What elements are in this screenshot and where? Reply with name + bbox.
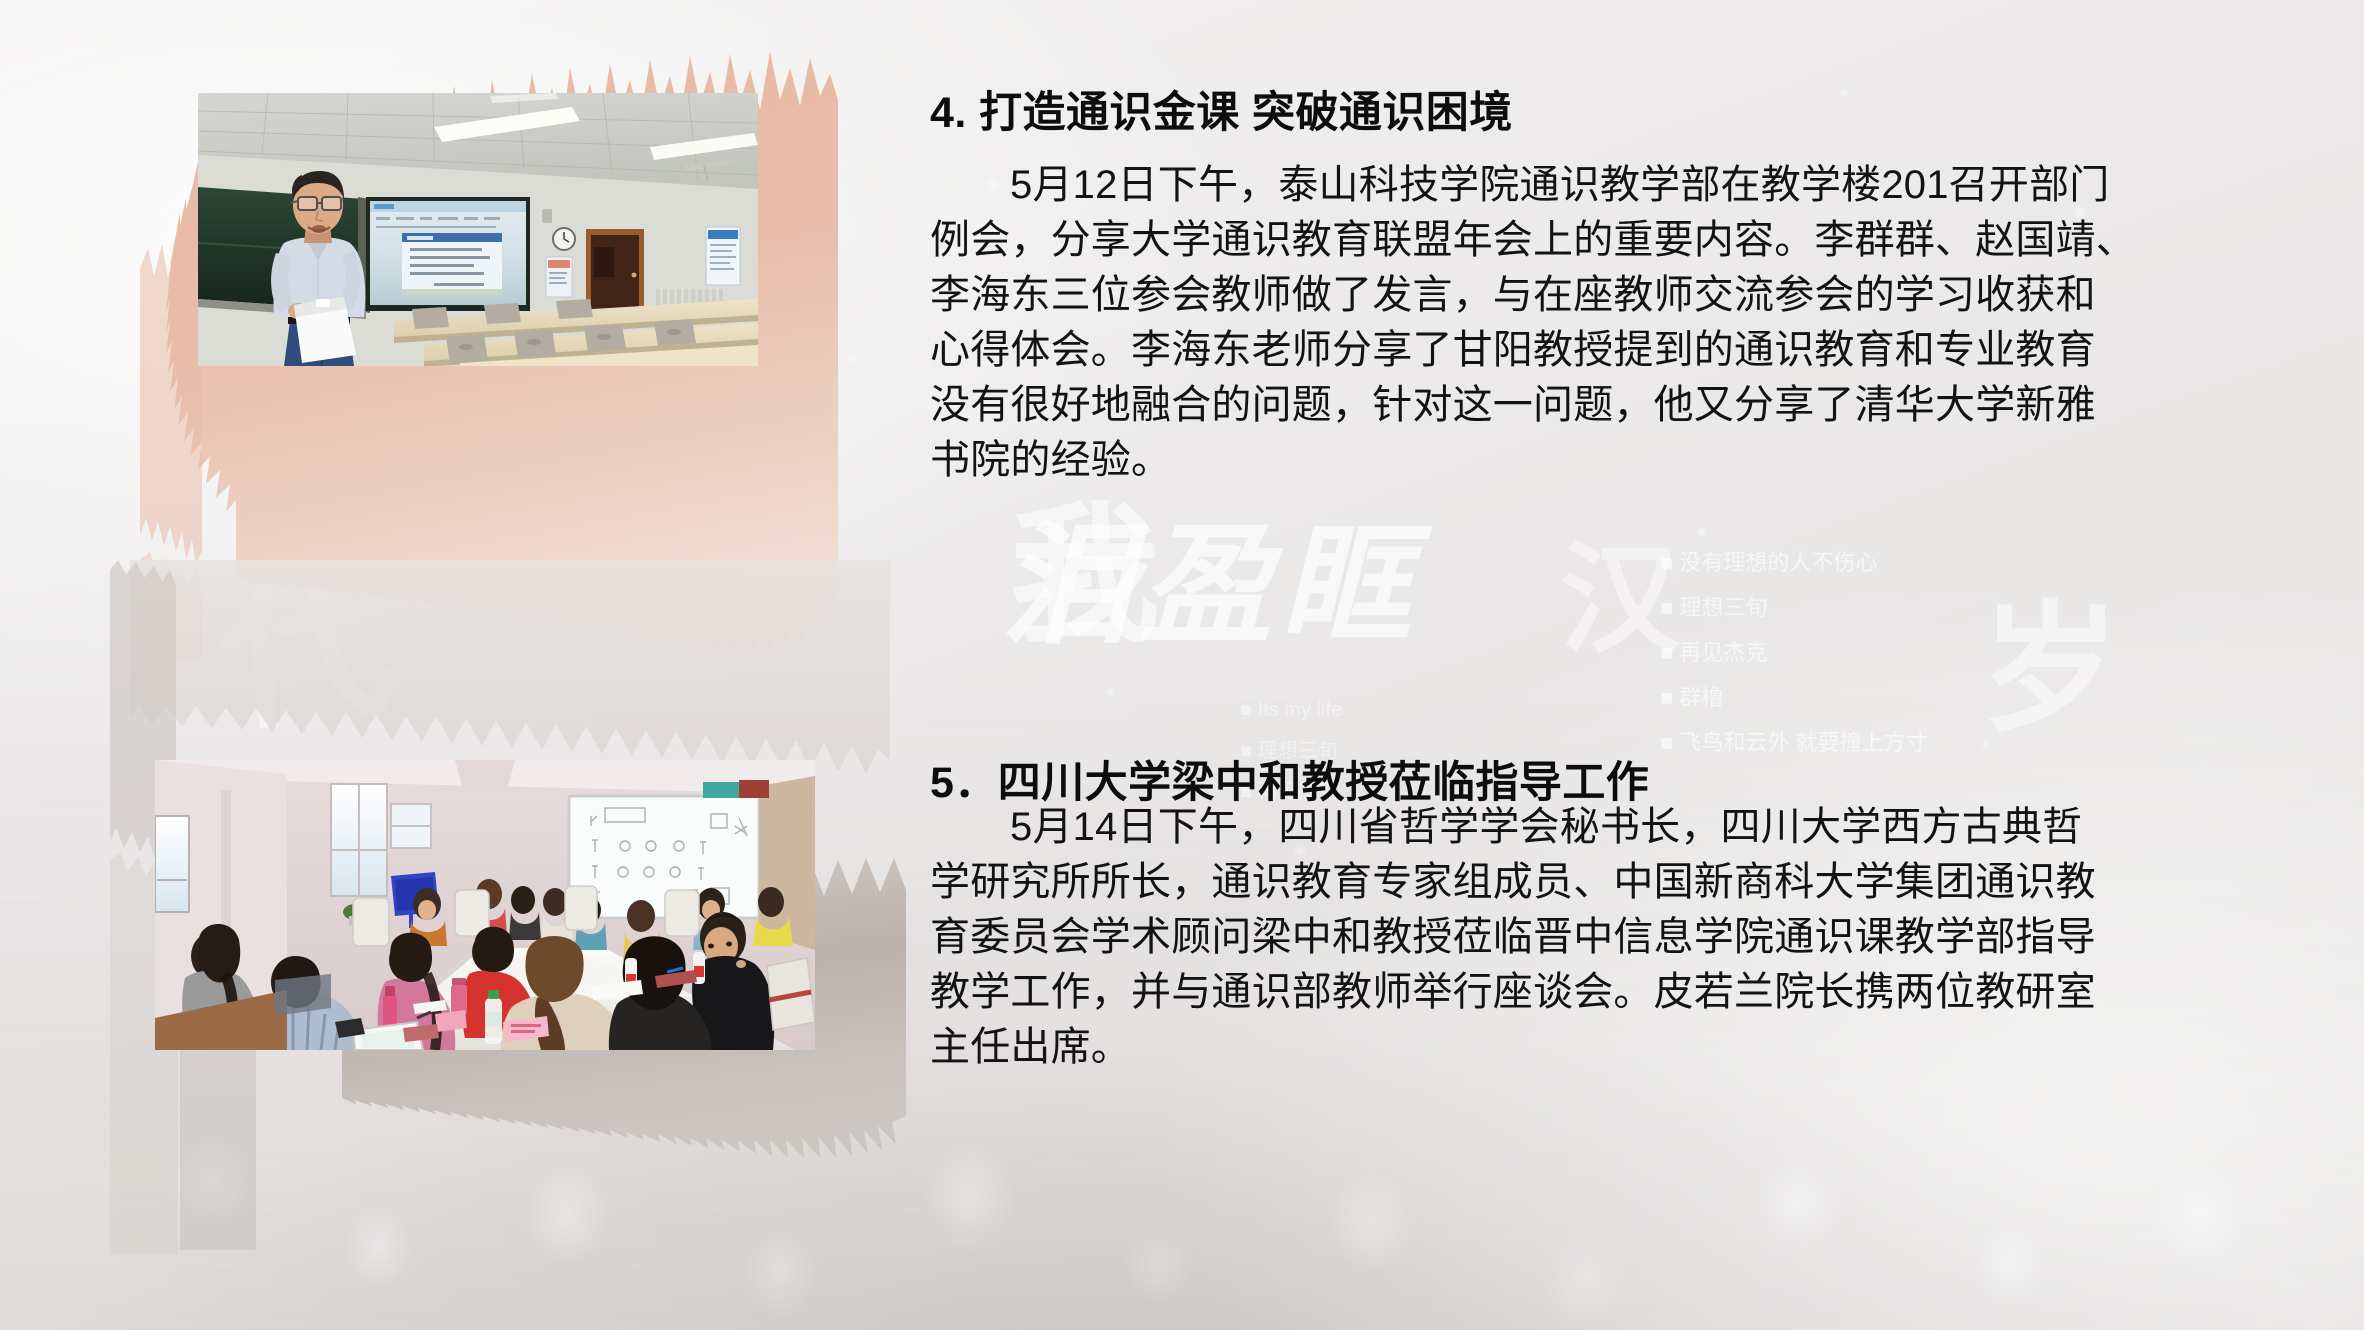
section-5-line-2: 学研究所所长，通识教育专家组成员、中国新商科大学集团通识教 xyxy=(930,855,2250,910)
section-4-heading: 4. 打造通识金课 突破通识困境 xyxy=(930,78,1513,140)
section-5-line-3: 育委员会学术顾问梁中和教授莅临晋中信息学院通识课教学部指导 xyxy=(930,910,2250,965)
section-4-line-1: 5月12日下午，泰山科技学院通识教学部在教学楼201召开部门 xyxy=(930,158,2250,213)
section-4-line-3: 李海东三位参会教师做了发言，与在座教师交流参会的学习收获和 xyxy=(930,268,2250,323)
section-4-line-6: 书院的经验。 xyxy=(930,433,2250,488)
section-5-line-1: 5月14日下午，四川省哲学学会秘书长，四川大学西方古典哲 xyxy=(930,800,2250,855)
section-4-paragraph: 5月12日下午，泰山科技学院通识教学部在教学楼201召开部门 例会，分享大学通识… xyxy=(930,158,2250,488)
section-4-line-2: 例会，分享大学通识教育联盟年会上的重要内容。李群群、赵国靖、 xyxy=(930,213,2250,268)
section-4-line-5: 没有很好地融合的问题，针对这一问题，他又分享了清华大学新雅 xyxy=(930,378,2250,433)
classroom-lecture-photo xyxy=(198,93,758,366)
section-5-line-4: 教学工作，并与通识部教师举行座谈会。皮若兰院长携两位教研室 xyxy=(930,965,2250,1020)
text-column: 4. 打造通识金课 突破通识困境 5月12日下午，泰山科技学院通识教学部在教学楼… xyxy=(930,0,2260,1330)
seminar-roundtable-photo xyxy=(155,760,815,1050)
section-4-line-4: 心得体会。李海东老师分享了甘阳教授提到的通识教育和专业教育 xyxy=(930,323,2250,378)
section-5-line-5: 主任出席。 xyxy=(930,1020,2250,1075)
slide-canvas: 代 三 我 岁 汉 ■ 没有理想的人不伤心 ■ 理想三旬 ■ 再见杰克 ■ 群橹… xyxy=(0,0,2364,1330)
section-5-paragraph: 5月14日下午，四川省哲学学会秘书长，四川大学西方古典哲 学研究所所长，通识教育… xyxy=(930,800,2250,1075)
